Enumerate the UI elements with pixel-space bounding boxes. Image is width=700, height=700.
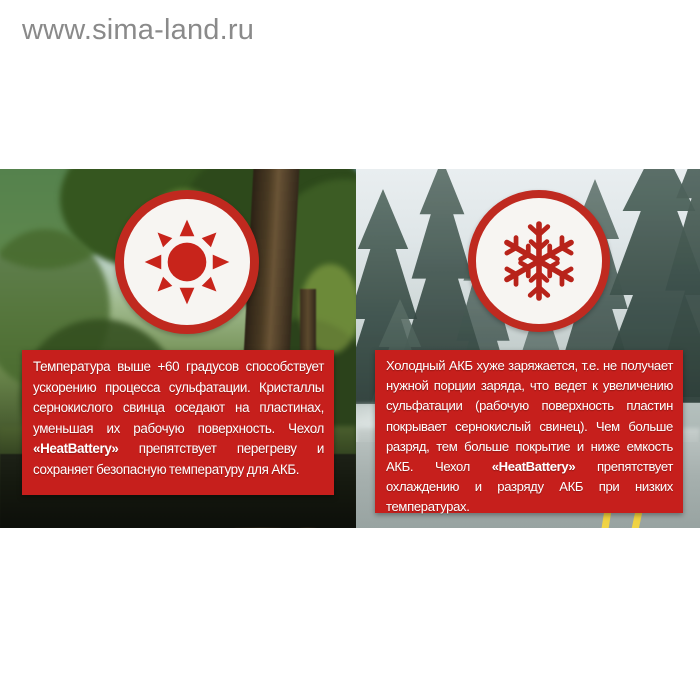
sun-icon — [141, 216, 233, 308]
summer-info-banner: Температура выше +60 градусов способству… — [22, 350, 334, 495]
winter-brand-name: «HeatBattery» — [492, 459, 576, 474]
panel-winter: Холодный АКБ хуже заряжается, т.е. не по… — [356, 169, 700, 528]
panel-summer: Температура выше +60 градусов способству… — [0, 169, 356, 528]
summer-brand-name: «HeatBattery» — [33, 441, 119, 456]
summer-text-part-1: Температура выше +60 градусов способству… — [33, 359, 324, 436]
product-image: Температура выше +60 градусов способству… — [0, 169, 700, 528]
summer-banner-text: Температура выше +60 градусов способству… — [33, 357, 324, 480]
winter-text-part-1: Холодный АКБ хуже заряжается, т.е. не по… — [386, 358, 673, 474]
winter-banner-text: Холодный АКБ хуже заряжается, т.е. не по… — [386, 356, 673, 518]
watermark-text: www.sima-land.ru — [22, 14, 254, 47]
sun-badge — [115, 190, 259, 334]
snowflake-badge — [468, 190, 610, 332]
winter-info-banner: Холодный АКБ хуже заряжается, т.е. не по… — [375, 350, 683, 513]
snowflake-icon — [495, 217, 583, 305]
